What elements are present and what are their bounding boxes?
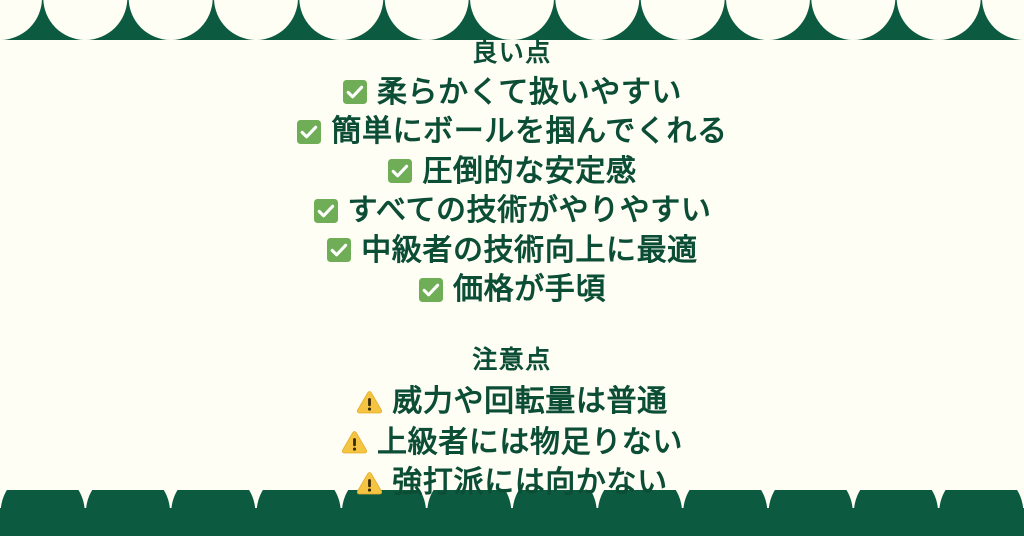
good-points-heading: 良い点	[472, 40, 552, 68]
good-points-list: 柔らかくて扱いやすい 簡単にボールを掴んでくれる	[296, 72, 727, 309]
review-summary-card: 良い点 柔らかくて扱いやすい	[0, 0, 1024, 536]
list-item-label: 強打派には向かない	[392, 464, 667, 502]
warning-triangle-icon	[356, 389, 383, 415]
list-item: 威力や回転量は普通	[356, 383, 667, 421]
list-item: 上級者には物足りない	[341, 424, 683, 462]
list-item: 簡単にボールを掴んでくれる	[296, 113, 727, 151]
check-box-icon	[418, 277, 444, 303]
check-box-icon	[387, 158, 413, 184]
list-item-label: 柔らかくて扱いやすい	[377, 74, 682, 112]
list-item-label: 中級者の技術向上に最適	[361, 232, 698, 270]
list-item-label: 圧倒的な安定感	[422, 153, 636, 191]
check-box-icon	[296, 119, 322, 145]
caution-points-section: 注意点 威力や回転量は普通	[0, 347, 1024, 502]
list-item: 強打派には向かない	[356, 464, 667, 502]
list-item-label: すべての技術がやりやすい	[348, 192, 712, 230]
list-item-label: 簡単にボールを掴んでくれる	[331, 113, 727, 151]
caution-points-heading: 注意点	[472, 347, 552, 375]
good-points-section: 良い点 柔らかくて扱いやすい	[0, 40, 1024, 309]
warning-triangle-icon	[356, 470, 383, 496]
list-item-label: 威力や回転量は普通	[392, 383, 667, 421]
caution-points-list: 威力や回転量は普通 上級者には物足りない	[341, 380, 683, 502]
list-item: すべての技術がやりやすい	[313, 192, 712, 230]
check-box-icon	[326, 237, 352, 263]
list-item: 中級者の技術向上に最適	[326, 232, 698, 270]
list-item-label: 価格が手頃	[453, 271, 606, 309]
check-box-icon	[342, 79, 368, 105]
list-item: 価格が手頃	[418, 271, 606, 309]
list-item-label: 上級者には物足りない	[377, 424, 683, 462]
check-box-icon	[313, 198, 339, 224]
warning-triangle-icon	[341, 429, 368, 455]
list-item: 圧倒的な安定感	[387, 153, 636, 191]
list-item: 柔らかくて扱いやすい	[342, 74, 682, 112]
card-content: 良い点 柔らかくて扱いやすい	[0, 0, 1024, 536]
